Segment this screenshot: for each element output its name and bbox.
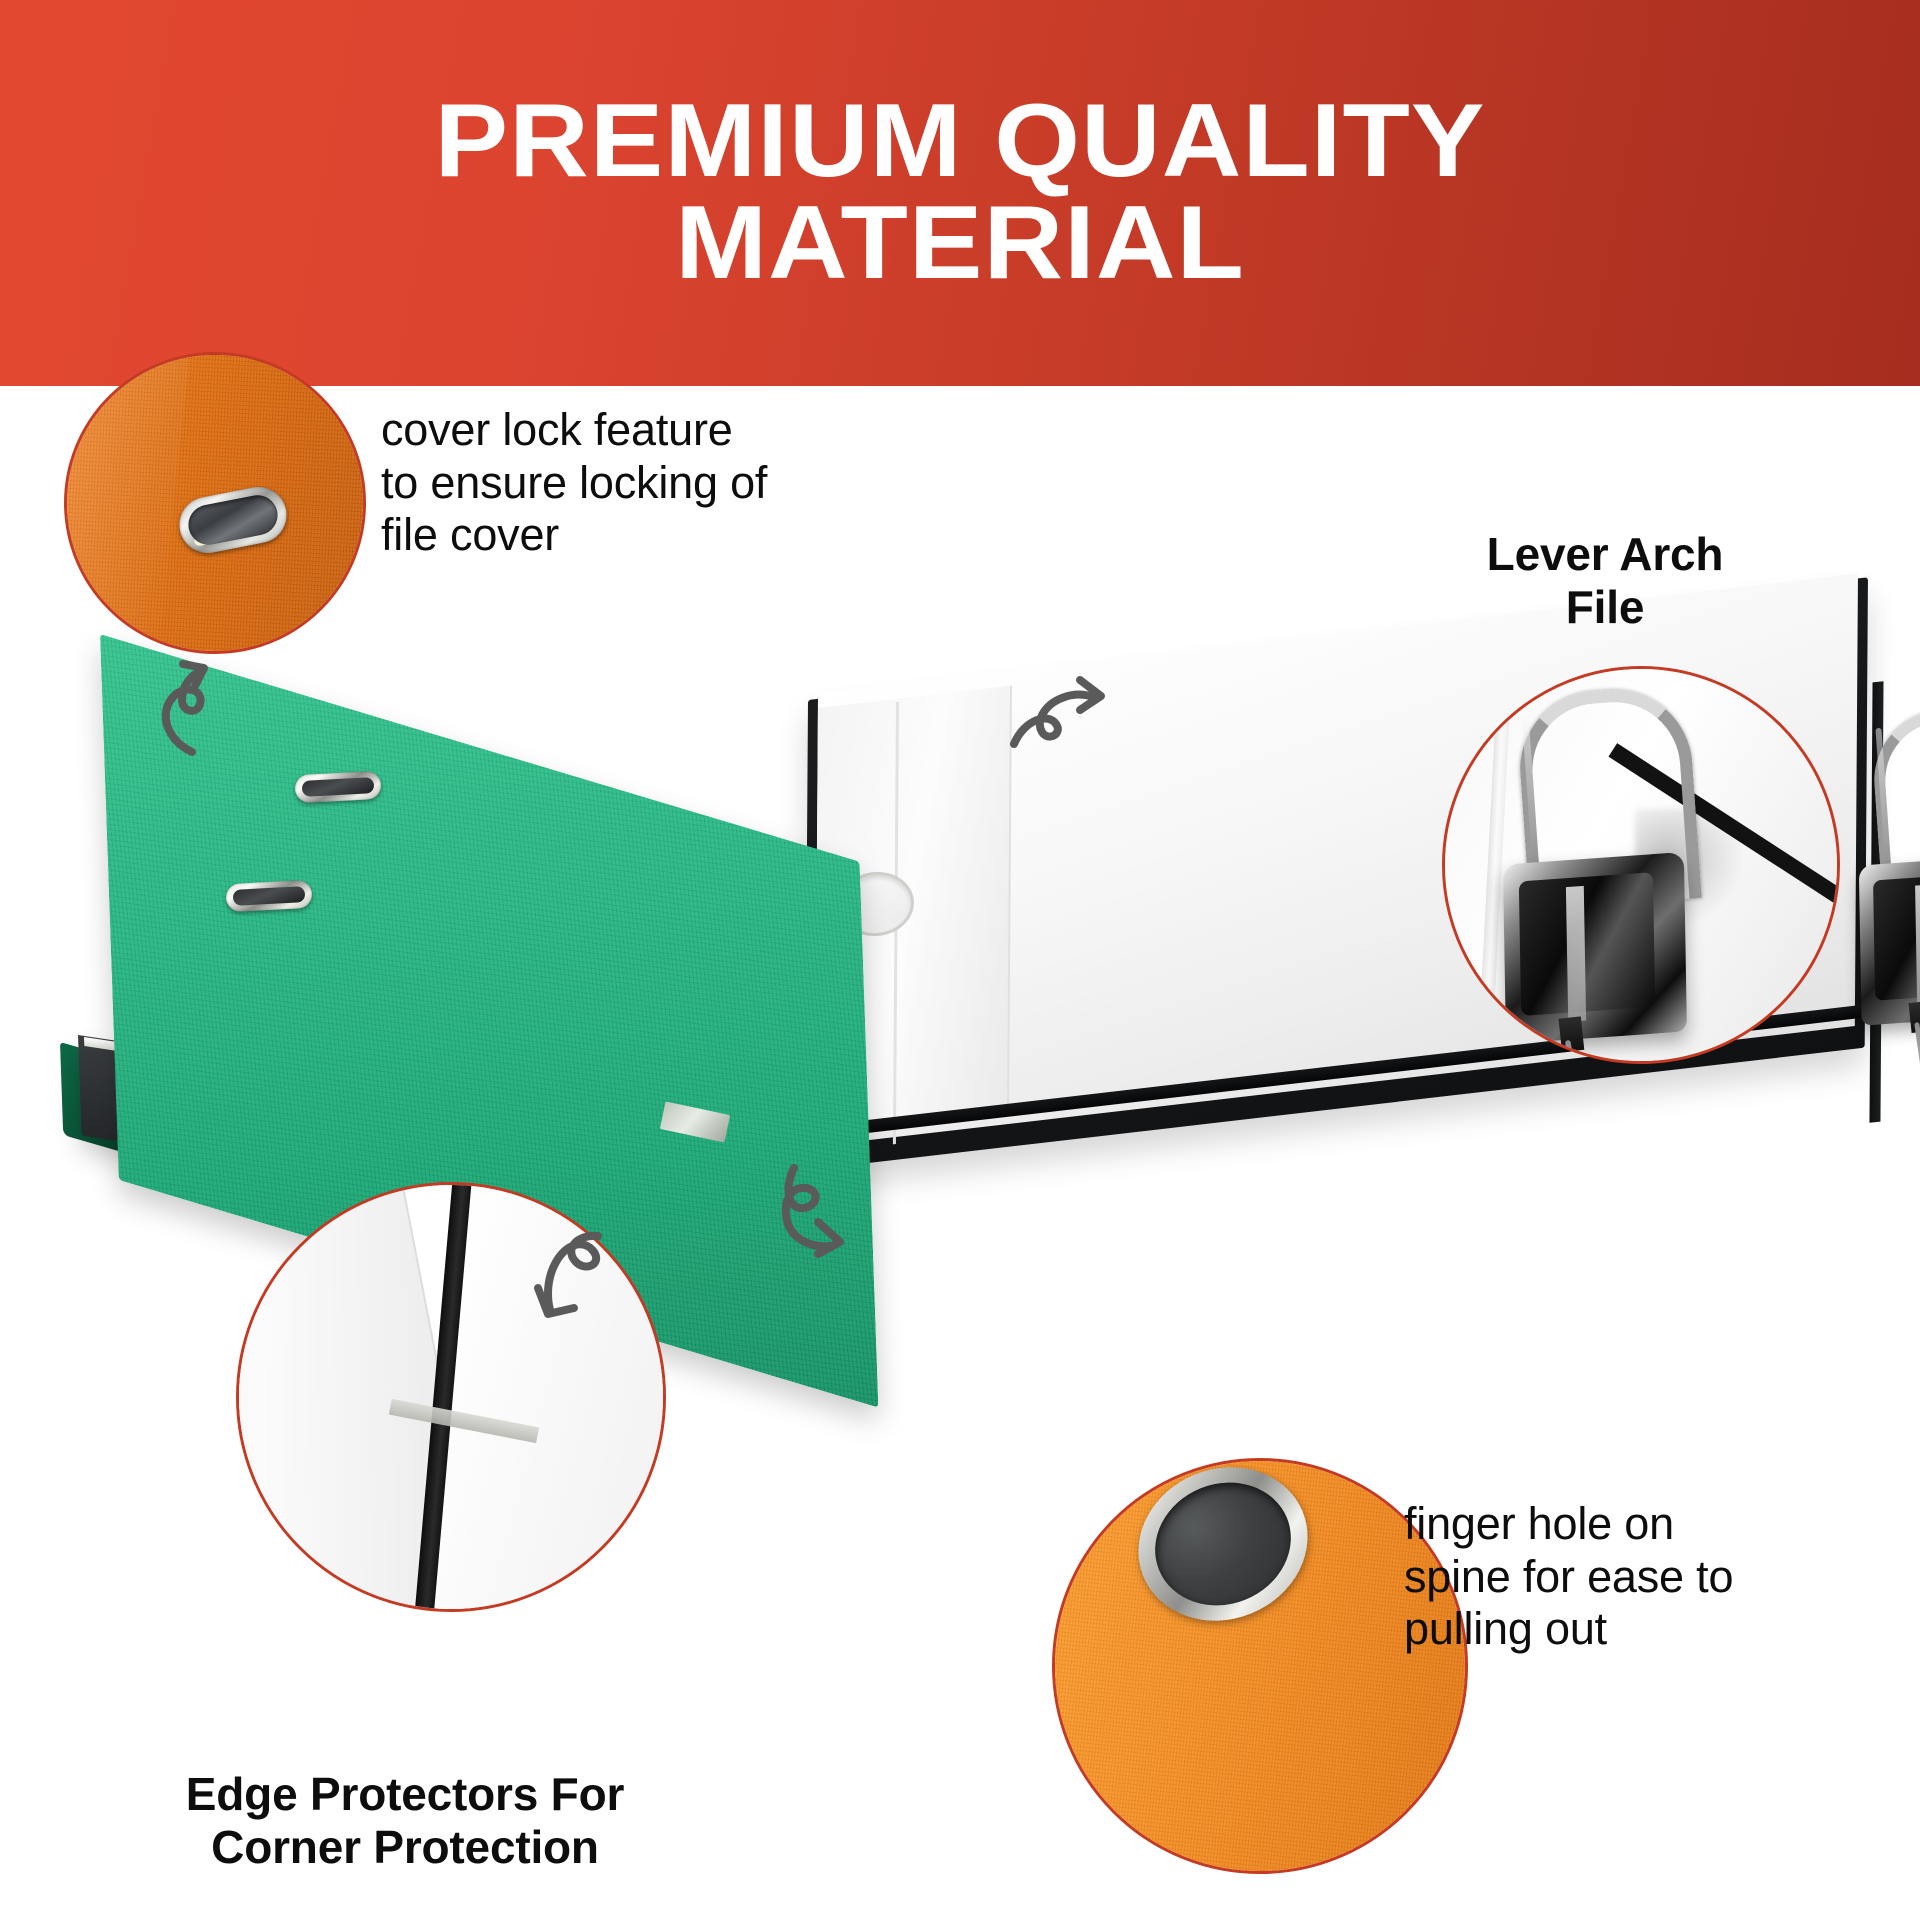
lever-arch-clamp-icon — [1503, 852, 1687, 1044]
lever-arch-clamp — [1859, 854, 1920, 1025]
banner-title-line-1: PREMIUM QUALITY — [27, 91, 1893, 193]
callout-bubble-cover-lock — [64, 352, 366, 654]
metal-glint — [193, 523, 268, 547]
header-banner: PREMIUM QUALITY MATERIAL — [0, 0, 1920, 386]
cover-lock-slot-bottom — [225, 880, 312, 912]
callout-label-lever-arch: Lever Arch File — [1370, 528, 1840, 635]
lever-arch-mechanism-icon — [1493, 690, 1717, 1037]
infographic-canvas: PREMIUM QUALITY MATERIAL — [0, 0, 1920, 1920]
callout-label-edge-protectors: Edge Protectors For Corner Protection — [85, 1768, 725, 1875]
curved-arrow-icon-right — [1010, 672, 1105, 752]
callout-label-cover-lock: cover lock feature to ensure locking of … — [381, 404, 1021, 562]
callout-label-finger-hole: finger hole on spine for ease to pulling… — [1404, 1498, 1904, 1656]
lever-arch-wire — [1914, 1022, 1920, 1106]
callout-bubble-lever-arch — [1442, 666, 1840, 1064]
cover-lock-slot-top — [294, 771, 381, 803]
curved-arrow-icon-down-left — [536, 1232, 626, 1332]
lever-arch-mechanism — [1850, 710, 1920, 1020]
curved-arrow-icon-up-left — [148, 660, 228, 755]
curved-arrow-icon-down-right — [778, 1162, 878, 1257]
banner-title-line-2: MATERIAL — [27, 193, 1893, 295]
page-title: PREMIUM QUALITY MATERIAL — [27, 91, 1893, 295]
